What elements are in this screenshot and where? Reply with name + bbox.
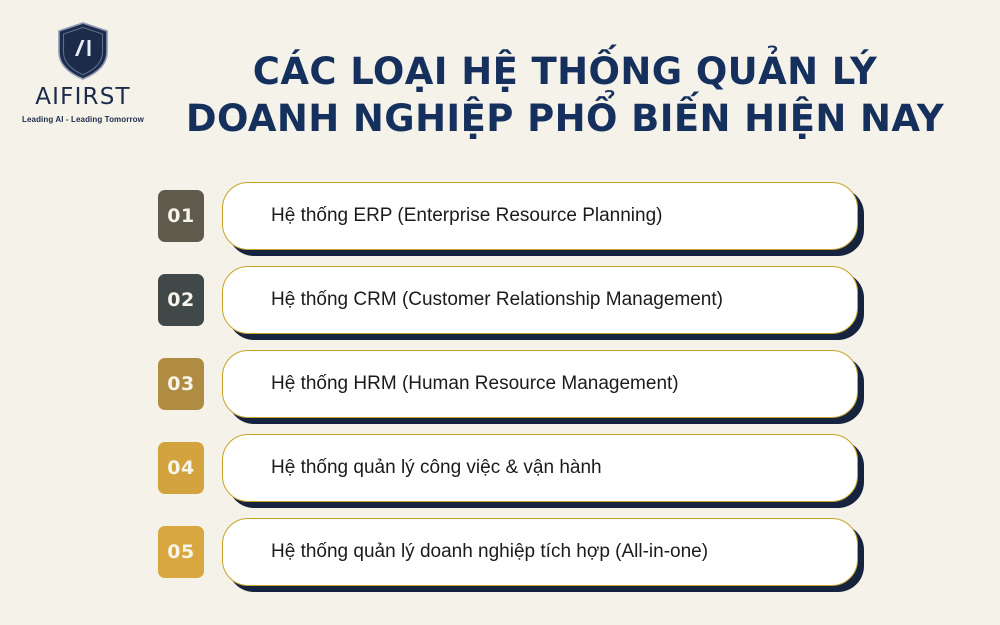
brand-name: AIFIRST bbox=[18, 86, 148, 109]
list-item-card-wrap: Hệ thống CRM (Customer Relationship Mana… bbox=[222, 266, 858, 334]
list-item-card[interactable]: Hệ thống quản lý doanh nghiệp tích hợp (… bbox=[222, 518, 858, 586]
list-item-number-badge: 01 bbox=[158, 190, 204, 242]
list-item-card-wrap: Hệ thống quản lý doanh nghiệp tích hợp (… bbox=[222, 518, 858, 586]
page-title: CÁC LOẠI HỆ THỐNG QUẢN LÝ DOANH NGHIỆP P… bbox=[170, 48, 960, 143]
infographic-page: AIFIRST Leading AI - Leading Tomorrow CÁ… bbox=[0, 0, 1000, 625]
list-item: 05 Hệ thống quản lý doanh nghiệp tích hợ… bbox=[158, 518, 858, 586]
list-item: 01 Hệ thống ERP (Enterprise Resource Pla… bbox=[158, 182, 858, 250]
list-item-card-wrap: Hệ thống HRM (Human Resource Management) bbox=[222, 350, 858, 418]
list-item: 04 Hệ thống quản lý công việc & vận hành bbox=[158, 434, 858, 502]
list-item-label: Hệ thống CRM (Customer Relationship Mana… bbox=[223, 289, 747, 312]
list-item-card[interactable]: Hệ thống CRM (Customer Relationship Mana… bbox=[222, 266, 858, 334]
list-item-label: Hệ thống quản lý công việc & vận hành bbox=[223, 457, 626, 480]
list-item: 03 Hệ thống HRM (Human Resource Manageme… bbox=[158, 350, 858, 418]
list-item-number-badge: 05 bbox=[158, 526, 204, 578]
list-item-card[interactable]: Hệ thống ERP (Enterprise Resource Planni… bbox=[222, 182, 858, 250]
list-item-number-badge: 03 bbox=[158, 358, 204, 410]
brand-tagline: Leading AI - Leading Tomorrow bbox=[18, 116, 148, 125]
list-item-label: Hệ thống HRM (Human Resource Management) bbox=[223, 373, 703, 396]
system-list: 01 Hệ thống ERP (Enterprise Resource Pla… bbox=[158, 182, 858, 586]
list-item-card-wrap: Hệ thống ERP (Enterprise Resource Planni… bbox=[222, 182, 858, 250]
list-item: 02 Hệ thống CRM (Customer Relationship M… bbox=[158, 266, 858, 334]
list-item-card[interactable]: Hệ thống quản lý công việc & vận hành bbox=[222, 434, 858, 502]
page-title-line-2: DOANH NGHIỆP PHỔ BIẾN HIỆN NAY bbox=[170, 95, 960, 142]
list-item-number-badge: 02 bbox=[158, 274, 204, 326]
page-title-line-1: CÁC LOẠI HỆ THỐNG QUẢN LÝ bbox=[170, 48, 960, 95]
list-item-card[interactable]: Hệ thống HRM (Human Resource Management) bbox=[222, 350, 858, 418]
list-item-card-wrap: Hệ thống quản lý công việc & vận hành bbox=[222, 434, 858, 502]
list-item-label: Hệ thống ERP (Enterprise Resource Planni… bbox=[223, 205, 686, 228]
brand-logo: AIFIRST Leading AI - Leading Tomorrow bbox=[18, 22, 148, 125]
list-item-label: Hệ thống quản lý doanh nghiệp tích hợp (… bbox=[223, 541, 732, 564]
list-item-number-badge: 04 bbox=[158, 442, 204, 494]
ai-shield-icon bbox=[57, 22, 109, 80]
